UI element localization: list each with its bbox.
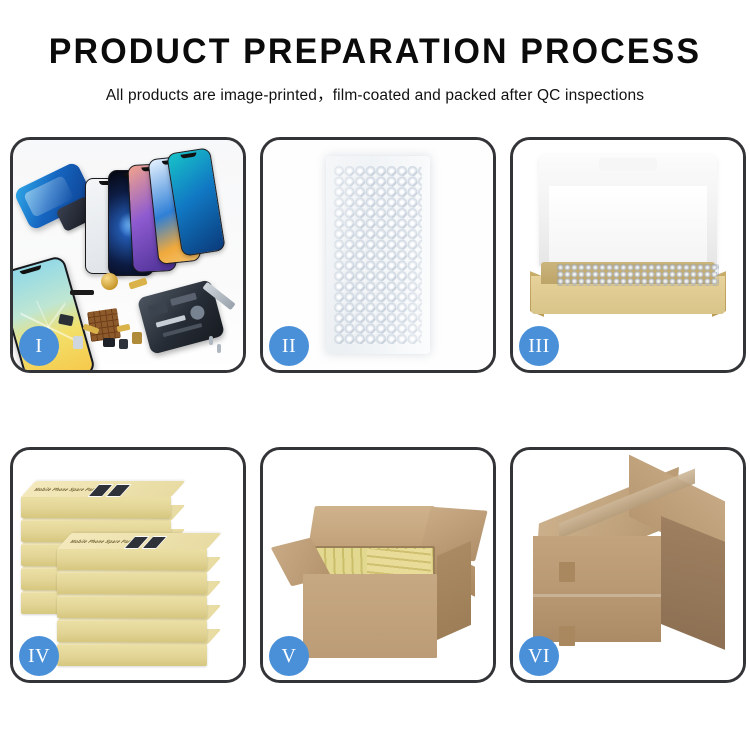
shipping-carton-open-icon <box>285 494 475 662</box>
step-badge-4: IV <box>19 636 59 676</box>
box-lid-icon <box>539 154 717 266</box>
carton-side-face <box>437 541 471 640</box>
carton-flap-tab-2 <box>559 626 575 646</box>
box-interior <box>541 262 715 284</box>
retail-box-top-left: Mobile Phone Spare Parts <box>21 496 171 518</box>
step-badge-3: III <box>519 326 559 366</box>
step-badge-5: V <box>269 636 309 676</box>
retail-box-top-right: Mobile Phone Spare Parts <box>57 548 207 570</box>
chip-component-icon <box>119 339 128 349</box>
step-badge-2: II <box>269 326 309 366</box>
bubble-wrap-pouch-icon <box>326 156 430 354</box>
carton-flap-tab-1 <box>559 562 575 582</box>
lid-tab <box>599 158 657 171</box>
box-stack: Mobile Phone Spare Parts Mobile Phone Sp… <box>21 472 235 668</box>
camera-module-icon <box>73 336 83 349</box>
page-title: PRODUCT PREPARATION PROCESS <box>11 34 739 69</box>
screw-2-icon <box>217 344 221 353</box>
step-badge-1: I <box>19 326 59 366</box>
carton-top-edge <box>533 594 661 597</box>
copper-mesh-icon <box>87 308 121 342</box>
retail-box <box>57 572 207 594</box>
product-preparation-infographic: PRODUCT PREPARATION PROCESS All products… <box>0 0 750 750</box>
flex-cable-1-icon <box>128 277 147 289</box>
process-step-6: VI <box>510 447 746 683</box>
shipping-carton-sealed-icon <box>533 478 727 650</box>
speaker-module-icon <box>101 273 118 290</box>
process-step-3: III <box>510 137 746 373</box>
screw-1-icon <box>209 336 213 345</box>
process-step-5: V <box>260 447 496 683</box>
process-step-2: II <box>260 137 496 373</box>
carton-front-face <box>533 536 661 642</box>
carton-front-face <box>303 574 437 658</box>
bubble-wrapped-contents <box>557 264 719 286</box>
process-step-grid: I II <box>10 137 740 677</box>
vibrator-motor-icon <box>103 338 115 347</box>
retail-box <box>57 596 207 618</box>
retail-box <box>57 644 207 666</box>
process-step-4: Mobile Phone Spare Parts Mobile Phone Sp… <box>10 447 246 683</box>
kraft-box-base-icon <box>531 262 725 314</box>
retail-box <box>57 620 207 642</box>
plastic-sheen <box>326 156 430 354</box>
battery-connector-icon <box>132 332 142 344</box>
page-subtitle: All products are image-printed，film-coat… <box>0 83 750 105</box>
header: PRODUCT PREPARATION PROCESS All products… <box>0 0 750 105</box>
process-step-1: I <box>10 137 246 373</box>
flex-cable-3-icon <box>117 324 131 333</box>
earpiece-mesh-icon <box>70 290 94 295</box>
step-badge-6: VI <box>519 636 559 676</box>
